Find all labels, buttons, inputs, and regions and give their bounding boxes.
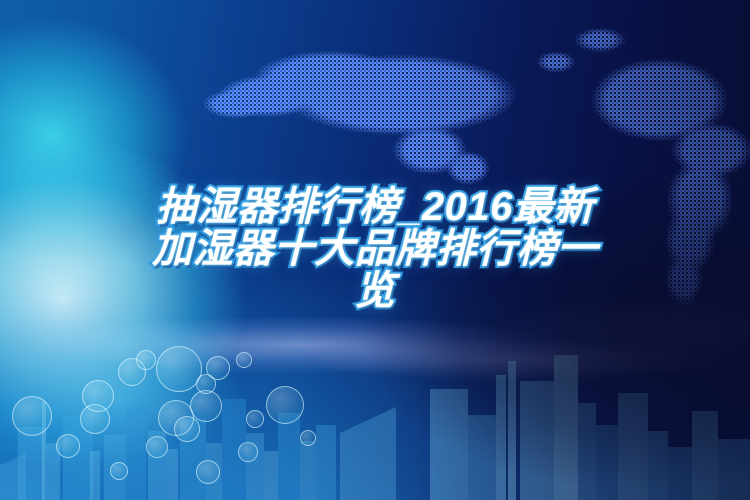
bubble xyxy=(300,430,316,446)
bubble xyxy=(136,350,156,370)
bubble xyxy=(246,410,264,428)
bubble xyxy=(80,404,110,434)
banner-image: 抽湿器排行榜_2016最新 加湿器十大品牌排行榜一 览 xyxy=(0,0,750,500)
bubble xyxy=(190,390,222,422)
bubble xyxy=(196,460,220,484)
bubble xyxy=(266,386,304,424)
bubble xyxy=(146,436,168,458)
bubble xyxy=(174,416,200,442)
bubble xyxy=(236,352,252,368)
bubble xyxy=(206,356,230,380)
floating-bubbles xyxy=(0,0,750,500)
bubble xyxy=(56,434,80,458)
bubble xyxy=(12,396,52,436)
bubble xyxy=(110,462,128,480)
bubble xyxy=(238,442,258,462)
